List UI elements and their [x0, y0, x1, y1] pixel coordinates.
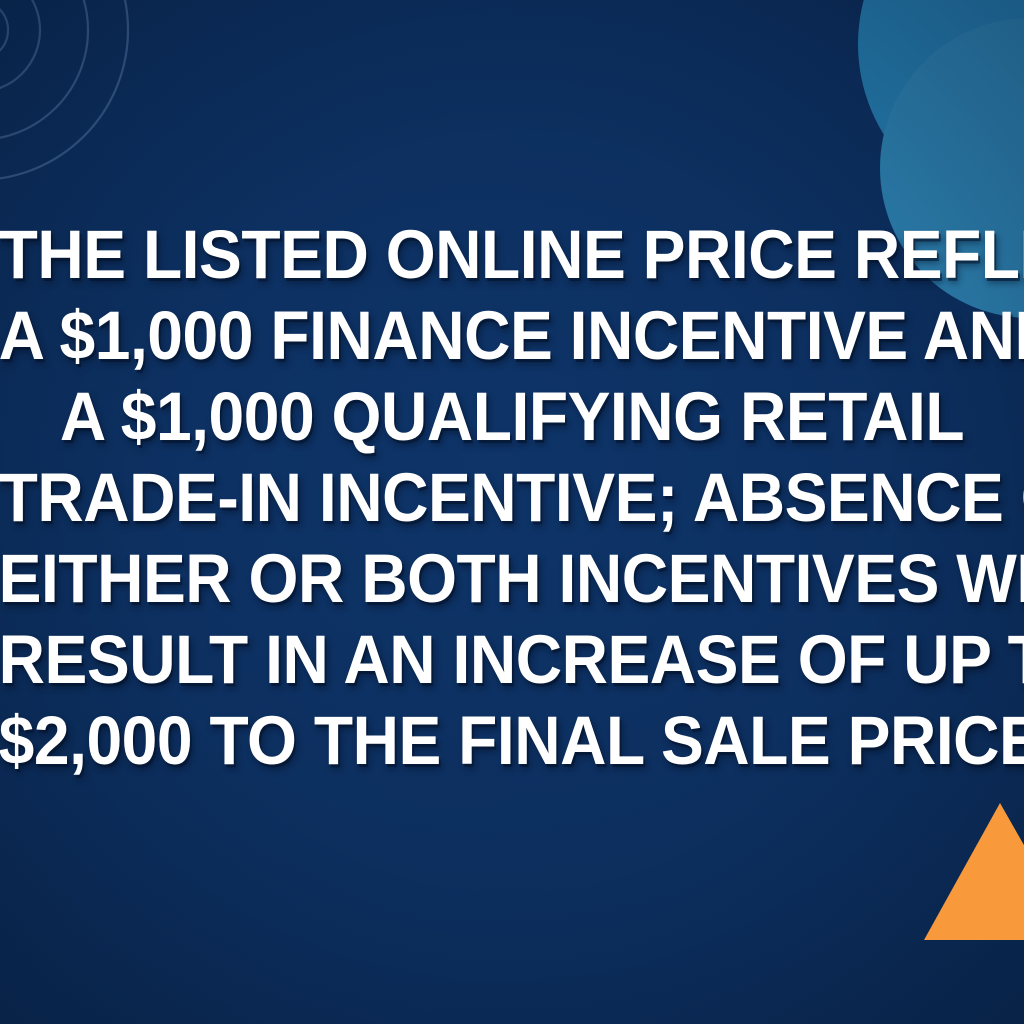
headline-line-7: $2,000 TO THE FINAL SALE PRICE.	[0, 700, 1024, 781]
headline-line-5: EITHER OR BOTH INCENTIVES WILL	[0, 538, 1024, 619]
promo-graphic: THE LISTED ONLINE PRICE REFLECTS A $1,00…	[0, 0, 1024, 1024]
headline-line-3: A $1,000 QUALIFYING RETAIL	[0, 376, 1024, 457]
page-title: THE LISTED ONLINE PRICE REFLECTS A $1,00…	[0, 214, 1024, 781]
headline-line-2: A $1,000 FINANCE INCENTIVE AND	[0, 295, 1024, 376]
headline-line-6: RESULT IN AN INCREASE OF UP TO	[0, 619, 1024, 700]
headline-line-4: TRADE-IN INCENTIVE; ABSENCE OF	[0, 457, 1024, 538]
headline-line-1: THE LISTED ONLINE PRICE REFLECTS	[0, 214, 1024, 295]
